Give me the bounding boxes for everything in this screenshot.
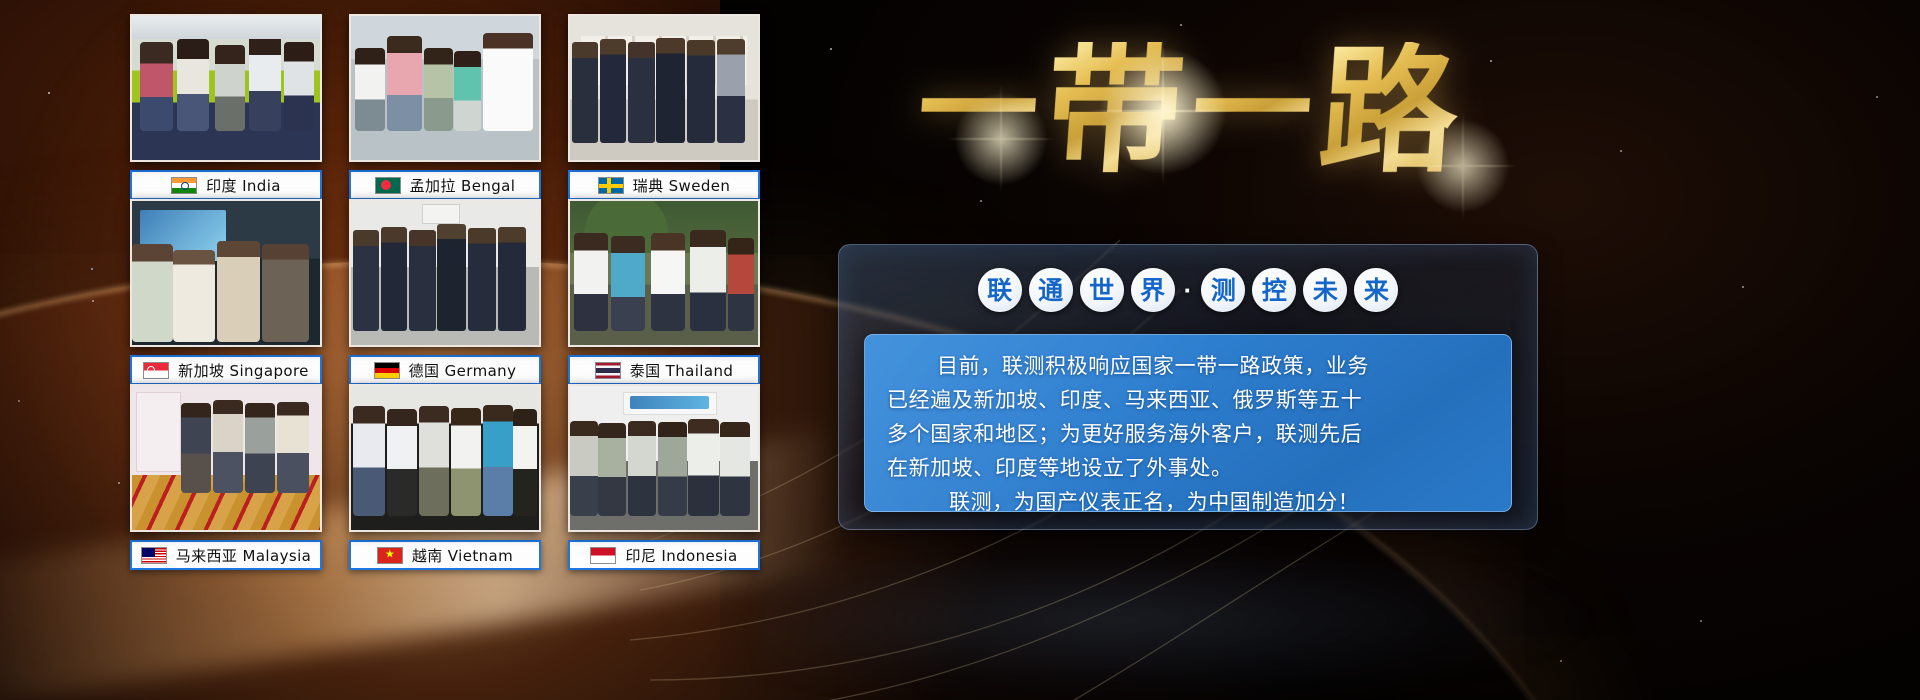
photo-singapore (130, 199, 322, 347)
slogan-char: 世 (1089, 278, 1114, 303)
slogan-pill: 界 (1131, 268, 1175, 312)
caption-germany: 德国 Germany (349, 355, 541, 385)
gallery-item-germany[interactable]: 德国 Germany (349, 199, 541, 385)
slogan-char: 联 (987, 278, 1012, 303)
slogan-pill: 世 (1080, 268, 1124, 312)
sweden-flag (598, 177, 624, 194)
photo-india (130, 14, 322, 162)
caption-india: 印度 India (130, 170, 322, 200)
gallery-item-india[interactable]: 印度 India (130, 14, 322, 200)
slogan-pill: 来 (1354, 268, 1398, 312)
gallery-item-singapore[interactable]: 新加坡 Singapore (130, 199, 322, 385)
gallery-item-vietnam[interactable]: 越南 Vietnam (349, 384, 541, 570)
photo-malaysia (130, 384, 322, 532)
calligraphy-char-2: 带 (1041, 42, 1189, 180)
caption-label: 印尼 Indonesia (625, 545, 737, 566)
caption-vietnam: 越南 Vietnam (349, 540, 541, 570)
slogan-row: 联 通 世 界 · 测 控 未 来 (958, 266, 1418, 314)
country-photo-gallery: 印度 India 孟加拉 Bengal (130, 14, 760, 686)
caption-thailand: 泰国 Thailand (568, 355, 760, 385)
slogan-pill: 控 (1252, 268, 1296, 312)
calligraphy-char-4: 路 (1315, 42, 1463, 180)
description-line-5: 联测，为国产仪表正名，为中国制造加分！ (887, 485, 1489, 512)
slogan-char: 界 (1140, 278, 1165, 303)
caption-sweden: 瑞典 Sweden (568, 170, 760, 200)
slogan-pill: 通 (1029, 268, 1073, 312)
photo-thailand (568, 199, 760, 347)
singapore-flag (143, 362, 169, 379)
caption-label: 泰国 Thailand (630, 360, 734, 381)
description-line-1: 目前，联测积极响应国家一带一路政策，业务 (887, 349, 1489, 383)
gallery-item-malaysia[interactable]: 马来西亚 Malaysia (130, 384, 322, 570)
caption-label: 瑞典 Sweden (633, 175, 731, 196)
slogan-separator: · (1182, 277, 1195, 303)
description-line-2: 已经遍及新加坡、印度、马来西亚、俄罗斯等五十 (887, 383, 1489, 417)
slogan-char: 来 (1364, 278, 1389, 303)
photo-germany (349, 199, 541, 347)
slogan-pill: 未 (1303, 268, 1347, 312)
photo-vietnam (349, 384, 541, 532)
calligraphy-char-3: 一 (1188, 51, 1316, 171)
slogan-char: 控 (1262, 278, 1287, 303)
malaysia-flag (141, 547, 167, 564)
germany-flag (374, 362, 400, 379)
caption-bengal: 孟加拉 Bengal (349, 170, 541, 200)
caption-malaysia: 马来西亚 Malaysia (130, 540, 322, 570)
india-flag (171, 177, 197, 194)
slogan-char: 测 (1211, 278, 1236, 303)
caption-singapore: 新加坡 Singapore (130, 355, 322, 385)
gallery-item-indonesia[interactable]: 印尼 Indonesia (568, 384, 760, 570)
slogan-pill: 联 (978, 268, 1022, 312)
banner-stage: 印度 India 孟加拉 Bengal (0, 0, 1920, 700)
caption-label: 新加坡 Singapore (178, 360, 309, 381)
calligraphy-char-1: 一 (914, 51, 1042, 171)
slogan-char: 通 (1038, 278, 1063, 303)
bengal-flag (375, 177, 401, 194)
caption-label: 印度 India (206, 175, 281, 196)
gallery-item-bengal[interactable]: 孟加拉 Bengal (349, 14, 541, 200)
vietnam-flag (377, 547, 403, 564)
gallery-item-sweden[interactable]: 瑞典 Sweden (568, 14, 760, 200)
thailand-flag (595, 362, 621, 379)
description-box: 目前，联测积极响应国家一带一路政策，业务 已经遍及新加坡、印度、马来西亚、俄罗斯… (864, 334, 1512, 512)
photo-bengal (349, 14, 541, 162)
caption-label: 越南 Vietnam (412, 545, 513, 566)
indonesia-flag (590, 547, 616, 564)
slogan-char: 未 (1313, 278, 1338, 303)
calligraphy-headline: 一 带 一 路 (838, 6, 1538, 216)
photo-sweden (568, 14, 760, 162)
caption-indonesia: 印尼 Indonesia (568, 540, 760, 570)
caption-label: 孟加拉 Bengal (410, 175, 516, 196)
gallery-item-thailand[interactable]: 泰国 Thailand (568, 199, 760, 385)
caption-label: 马来西亚 Malaysia (176, 545, 312, 566)
description-line-3: 多个国家和地区；为更好服务海外客户，联测先后 (887, 417, 1489, 451)
description-line-4: 在新加坡、印度等地设立了外事处。 (887, 451, 1489, 485)
slogan-pill: 测 (1201, 268, 1245, 312)
photo-indonesia (568, 384, 760, 532)
caption-label: 德国 Germany (409, 360, 517, 381)
